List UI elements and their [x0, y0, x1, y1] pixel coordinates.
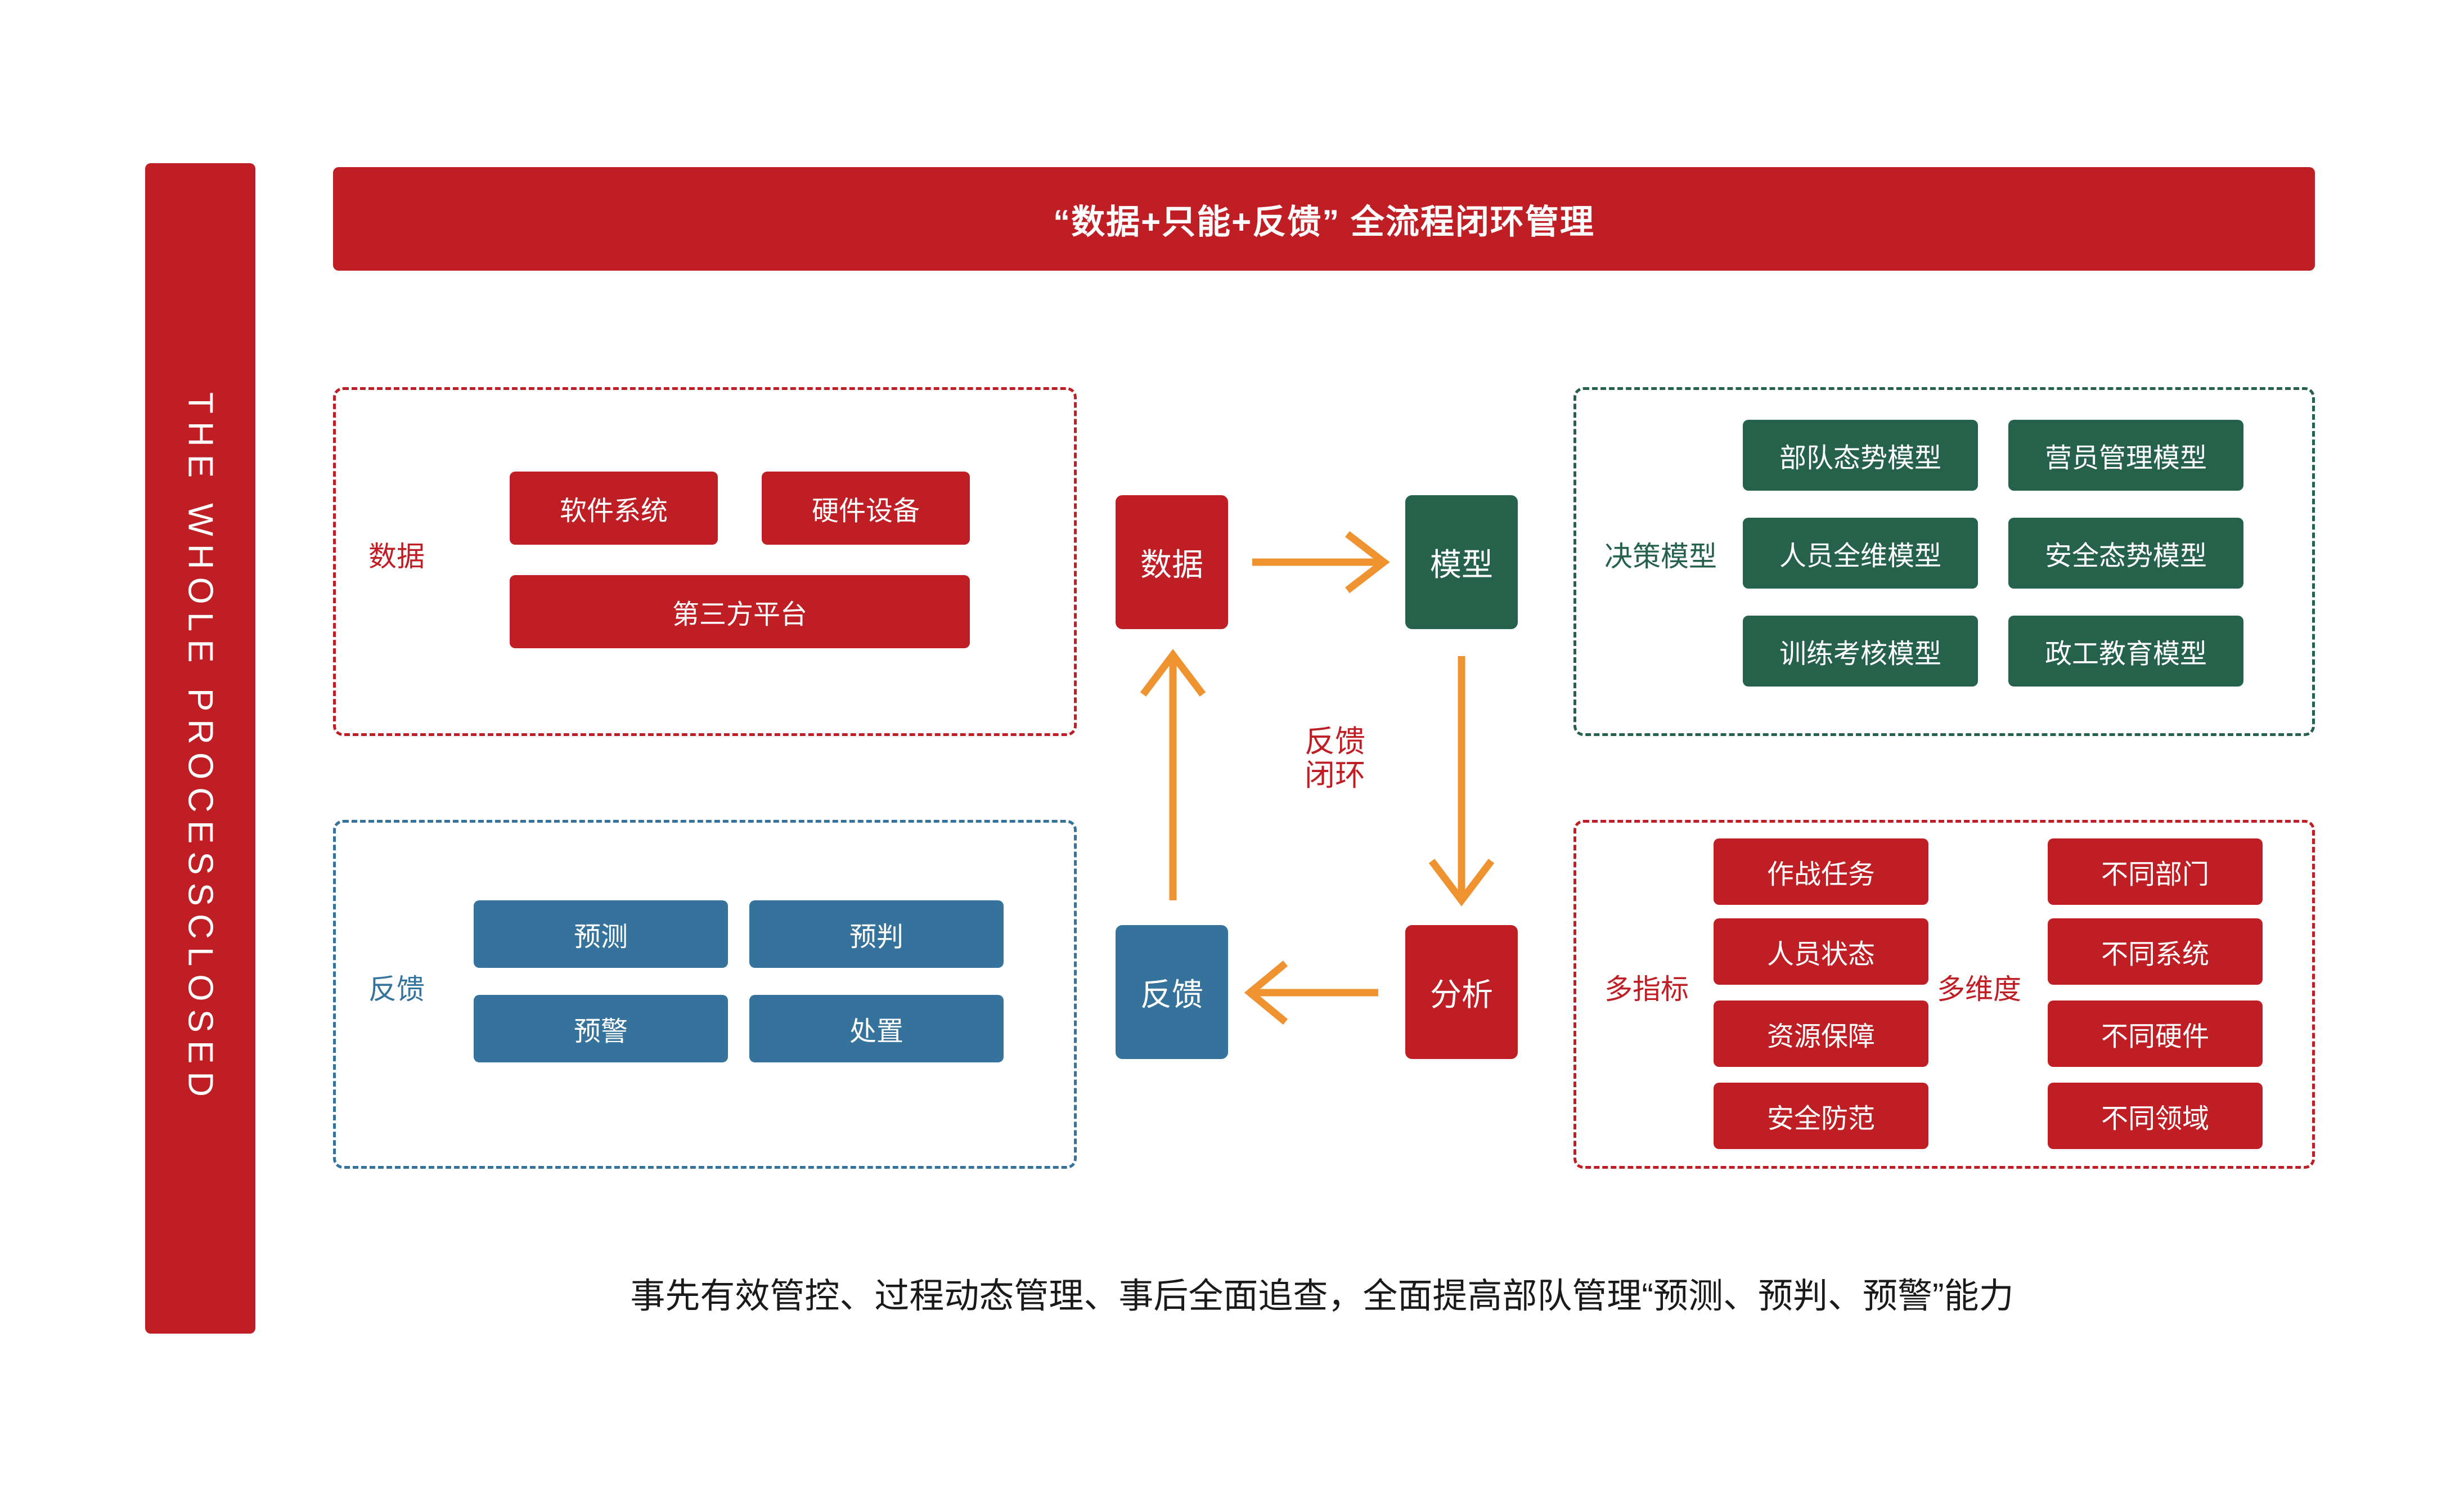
- panel-decision-model-label: 决策模型: [1604, 541, 1717, 572]
- chip-safety-precaution[interactable]: 安全防范: [1714, 1083, 1928, 1149]
- panel-dimension-label: 多维度: [1937, 974, 2021, 1005]
- chip-political-education-model[interactable]: 政工教育模型: [2008, 616, 2243, 687]
- title-banner: “数据+只能+反馈” 全流程闭环管理: [333, 167, 2315, 271]
- left-vertical-banner: THE WHOLE PROCESSCLOSED: [145, 163, 255, 1334]
- chip-forecast[interactable]: 预测: [474, 900, 728, 968]
- chip-early-warning[interactable]: 预警: [474, 995, 728, 1062]
- chip-combat-mission[interactable]: 作战任务: [1714, 838, 1928, 905]
- chip-hardware-device[interactable]: 硬件设备: [762, 472, 970, 545]
- chip-different-system[interactable]: 不同系统: [2048, 918, 2263, 985]
- bottom-caption: 事先有效管控、过程动态管理、事后全面追查，全面提高部队管理“预测、预判、预警”能…: [338, 1267, 2306, 1318]
- loop-caption-line-1: 反馈: [1270, 725, 1400, 759]
- panel-feedback: [333, 820, 1077, 1169]
- panel-feedback-label: 反馈: [368, 974, 425, 1005]
- panel-data: [333, 387, 1077, 736]
- chip-personnel-status[interactable]: 人员状态: [1714, 918, 1928, 985]
- panel-data-label: 数据: [368, 541, 425, 572]
- chip-training-assessment-model[interactable]: 训练考核模型: [1743, 616, 1978, 687]
- chip-prejudge[interactable]: 预判: [749, 900, 1004, 968]
- cycle-node-model[interactable]: 模型: [1405, 495, 1518, 629]
- arrow-analysis-to-feedback: [1250, 963, 1378, 1022]
- chip-third-party-platform[interactable]: 第三方平台: [510, 575, 970, 648]
- chip-personnel-full-dimension-model[interactable]: 人员全维模型: [1743, 518, 1978, 589]
- arrow-feedback-to-data: [1143, 655, 1203, 900]
- arrow-model-to-analysis: [1432, 656, 1491, 900]
- chip-software-system[interactable]: 软件系统: [510, 472, 718, 545]
- vertical-banner-label: THE WHOLE PROCESSCLOSED: [181, 392, 221, 1105]
- cycle-node-feedback[interactable]: 反馈: [1116, 925, 1228, 1059]
- chip-troop-situation-model[interactable]: 部队态势模型: [1743, 420, 1978, 491]
- chip-different-hardware[interactable]: 不同硬件: [2048, 1001, 2263, 1067]
- title-banner-text: “数据+只能+反馈” 全流程闭环管理: [1053, 195, 1595, 244]
- loop-caption-line-2: 闭环: [1270, 759, 1400, 792]
- diagram-canvas: THE WHOLE PROCESSCLOSED “数据+只能+反馈” 全流程闭环…: [0, 0, 2464, 1494]
- loop-caption: 反馈 闭环: [1270, 725, 1400, 793]
- chip-camper-management-model[interactable]: 营员管理模型: [2008, 420, 2243, 491]
- arrow-data-to-model: [1252, 534, 1384, 590]
- cycle-node-analysis[interactable]: 分析: [1405, 925, 1518, 1059]
- chip-disposal[interactable]: 处置: [749, 995, 1004, 1062]
- chip-different-domain[interactable]: 不同领域: [2048, 1083, 2263, 1149]
- panel-indicator-label: 多指标: [1604, 974, 1689, 1005]
- chip-different-department[interactable]: 不同部门: [2048, 838, 2263, 905]
- chip-security-situation-model[interactable]: 安全态势模型: [2008, 518, 2243, 589]
- cycle-node-data[interactable]: 数据: [1116, 495, 1228, 629]
- chip-resource-support[interactable]: 资源保障: [1714, 1001, 1928, 1067]
